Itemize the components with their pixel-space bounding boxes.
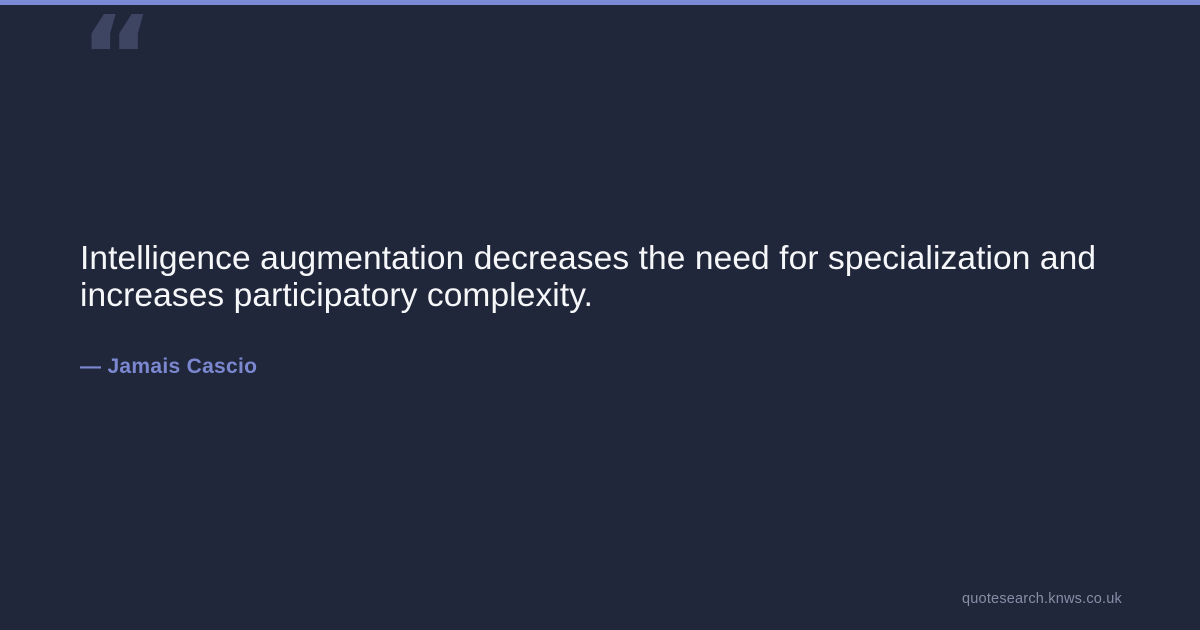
quote-content: Intelligence augmentation decreases the … [80, 240, 1128, 380]
top-accent-bar [0, 0, 1200, 5]
attribution-dash: — [80, 355, 101, 378]
site-watermark: quotesearch.knws.co.uk [962, 590, 1122, 608]
quote-card: “ Intelligence augmentation decreases th… [0, 0, 1200, 630]
quote-attribution: — Jamais Cascio [80, 314, 1128, 380]
author-name: Jamais Cascio [107, 355, 257, 378]
quote-text: Intelligence augmentation decreases the … [80, 240, 1120, 314]
open-quote-icon: “ [80, 2, 152, 114]
